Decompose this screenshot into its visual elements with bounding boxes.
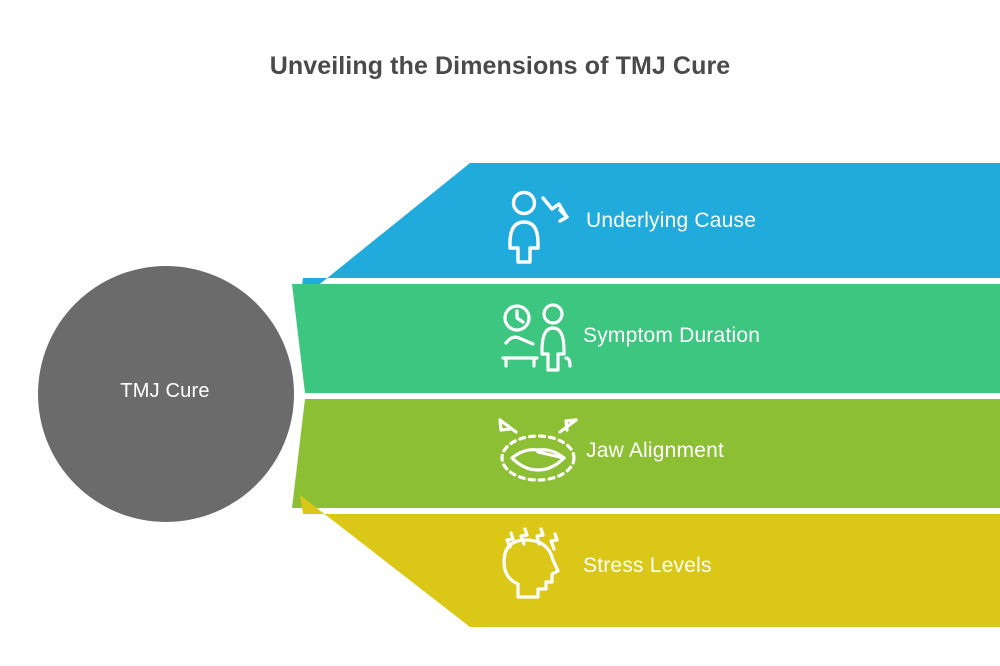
band-label-symptom-duration: Symptom Duration [583, 324, 760, 348]
hub-label: TMJ Cure [45, 380, 285, 403]
band-label-stress-levels: Stress Levels [583, 554, 712, 578]
band-label-underlying-cause: Underlying Cause [586, 209, 756, 233]
fan-diagram [0, 0, 1000, 666]
band-label-jaw-alignment: Jaw Alignment [586, 439, 724, 463]
infographic-canvas: Unveiling the Dimensions of TMJ Cure [0, 0, 1000, 666]
